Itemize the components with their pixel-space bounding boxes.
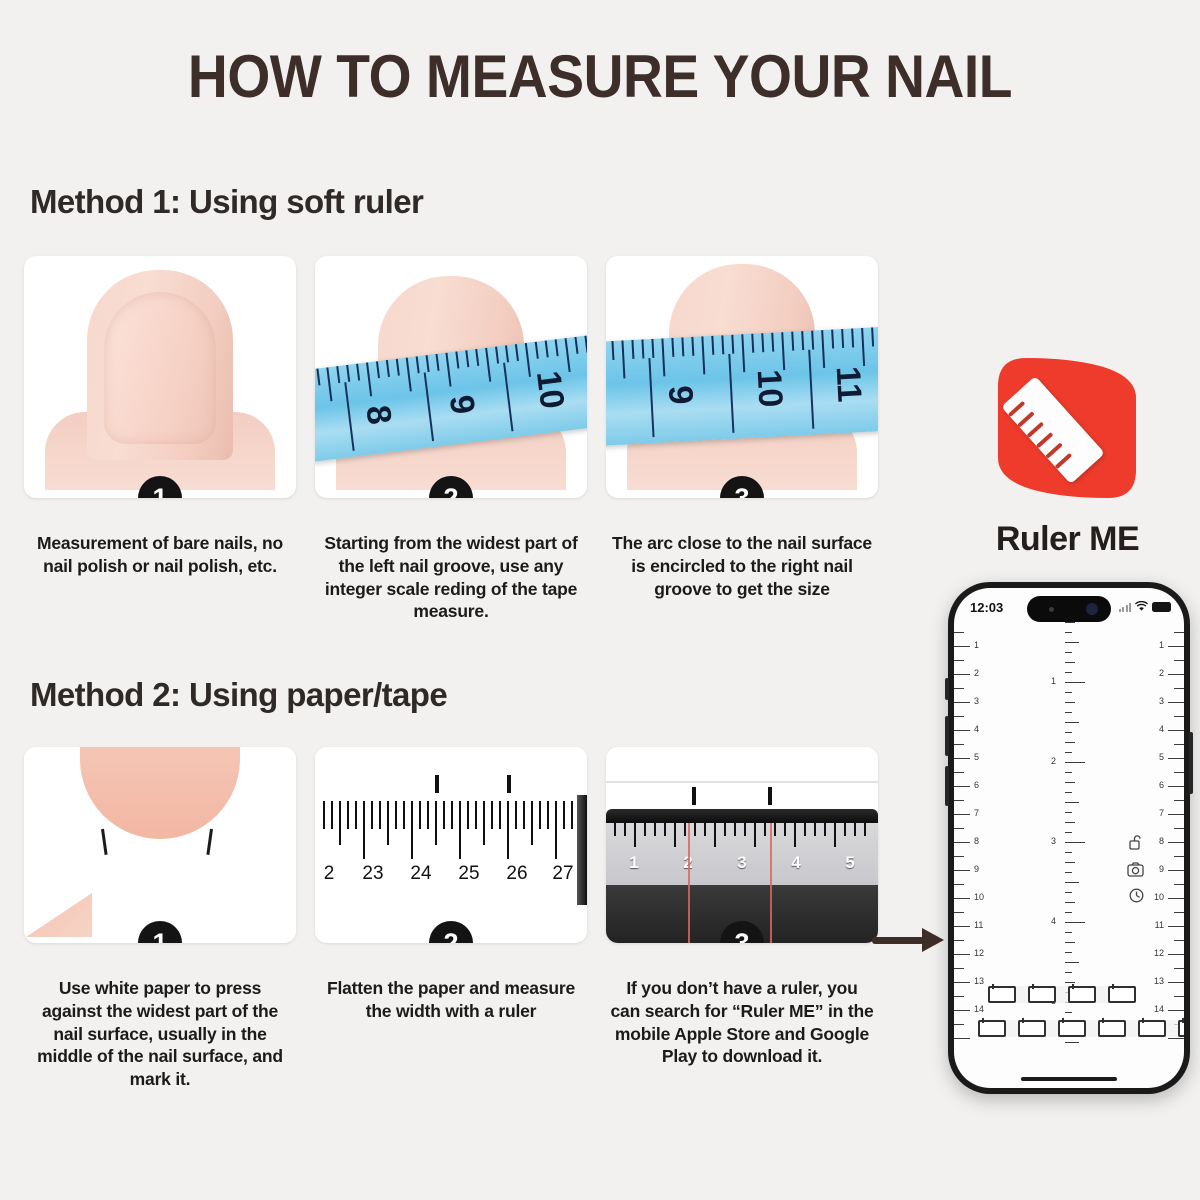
phone-ruler-label: 1 xyxy=(629,853,638,873)
ruler-tick-label: 2 xyxy=(1159,668,1164,678)
step-caption: The arc close to the nail surface is enc… xyxy=(606,532,878,600)
ruler-tick-label: 3 xyxy=(1159,696,1164,706)
phone-screen[interactable]: 12:03 xyxy=(954,588,1184,1088)
ruler-tick-label: 13 xyxy=(1154,976,1164,986)
timer-icon[interactable] xyxy=(1129,888,1144,903)
unlock-icon[interactable] xyxy=(1129,834,1144,850)
measurement-chip[interactable] xyxy=(988,986,1016,1003)
phone-volume-down-button[interactable] xyxy=(945,766,949,806)
ruler-tick-label: 12 xyxy=(974,948,984,958)
tape-number: 9 xyxy=(441,393,482,417)
sensor-dot-icon xyxy=(1049,607,1054,612)
step-caption: Flatten the paper and measure the width … xyxy=(315,977,587,1023)
ruler-tick-label: 11 xyxy=(1155,920,1164,930)
ruler-label: 26 xyxy=(506,863,527,885)
measurement-chip[interactable] xyxy=(1098,1020,1126,1037)
camera-icon[interactable] xyxy=(1127,862,1144,877)
step-caption: Use white paper to press against the wid… xyxy=(24,977,296,1091)
ruler-scale: 2 23 24 25 26 27 xyxy=(315,801,587,897)
measurement-chip[interactable] xyxy=(1178,1020,1184,1037)
wifi-icon xyxy=(1135,601,1148,612)
ruler-tick-label: 6 xyxy=(1159,780,1164,790)
tape-number: 8 xyxy=(357,403,398,427)
measurement-chip[interactable] xyxy=(1028,986,1056,1003)
ruler-tick-label: 3 xyxy=(974,696,979,706)
home-indicator[interactable] xyxy=(1021,1077,1117,1081)
ruler-tick-label: 8 xyxy=(974,836,979,846)
pen-mark xyxy=(435,775,439,793)
finger-shape xyxy=(87,270,233,460)
finger-wrapped-with-tape-measure-photo: 9 10 11 3 xyxy=(606,256,878,498)
tape-number: 10 xyxy=(528,369,571,411)
ruler-tick-label: 1 xyxy=(974,640,979,650)
ruler-label: 27 xyxy=(552,863,573,885)
step-card: 1 Use white paper to press against the w… xyxy=(24,747,296,1091)
ruler-label: 25 xyxy=(458,863,479,885)
ruler-tick-label: 1 xyxy=(1159,640,1164,650)
ruler-tick-label: 9 xyxy=(974,864,979,874)
ruler-label: 2 xyxy=(324,863,335,885)
ruler-tick-label: 3 xyxy=(1051,836,1056,846)
ruler-tick-label: 7 xyxy=(974,808,979,818)
measurement-chip-row[interactable] xyxy=(978,1020,1184,1037)
signal-bars-icon xyxy=(1119,602,1132,612)
step-card: 1 Measurement of bare nails, no nail pol… xyxy=(24,256,296,623)
ruler-tick-label: 6 xyxy=(974,780,979,790)
measurement-chip[interactable] xyxy=(1058,1020,1086,1037)
phone-power-button[interactable] xyxy=(1189,732,1193,794)
right-arrow-icon xyxy=(872,928,944,952)
ruler-tick-label: 14 xyxy=(974,1004,984,1014)
arrow-shaft xyxy=(872,937,924,944)
finger-with-blue-tape-measure-photo: 8 9 10 2 xyxy=(315,256,587,498)
tape-number: 10 xyxy=(749,368,790,408)
phone-mockup: 12:03 xyxy=(948,582,1190,1094)
ruler-tick-label: 5 xyxy=(1159,752,1164,762)
measurement-chip-row[interactable] xyxy=(988,986,1136,1003)
ruler-tick-label: 2 xyxy=(1051,756,1056,766)
ruler-tick-label: 4 xyxy=(974,724,979,734)
method-1-steps: 1 Measurement of bare nails, no nail pol… xyxy=(24,256,878,623)
ruler-label: 24 xyxy=(410,863,431,885)
tape-number: 9 xyxy=(660,385,700,406)
phone-ruler-label: 5 xyxy=(845,853,854,873)
ruler-tick-label: 1 xyxy=(1051,676,1056,686)
step-card: 8 9 10 2 Starting from the widest part o… xyxy=(315,256,587,623)
status-bar-indicators xyxy=(1119,601,1172,612)
step-caption: If you don’t have a ruler, you can searc… xyxy=(606,977,878,1068)
tape-number: 11 xyxy=(828,365,869,403)
ruler-tick-label: 4 xyxy=(1051,916,1056,926)
measurement-chip[interactable] xyxy=(978,1020,1006,1037)
ruler-tick-label: 11 xyxy=(974,920,983,930)
pen-mark xyxy=(768,787,772,805)
ruler-tick-label: 14 xyxy=(1154,1004,1164,1014)
app-name-label: Ruler ME xyxy=(960,520,1175,559)
ruler-label: 23 xyxy=(362,863,383,885)
ruler-tick-label: 9 xyxy=(1159,864,1164,874)
ruler-tick-label: 2 xyxy=(974,668,979,678)
phone-ruler-center: 1 2 3 4 5 xyxy=(1035,622,1103,1074)
step-card: 2 23 24 25 26 27 2 Flatten the paper and… xyxy=(315,747,587,1091)
bare-fingernail-photo: 1 xyxy=(24,256,296,498)
step-card: 9 10 11 3 The arc close to the nail surf… xyxy=(606,256,878,623)
step-caption: Starting from the widest part of the lef… xyxy=(315,532,587,623)
pen-mark xyxy=(692,787,696,805)
phone-ruler-scale: 1 2 3 4 5 xyxy=(606,823,878,885)
step-caption: Measurement of bare nails, no nail polis… xyxy=(24,532,296,578)
paper-on-ruler-photo: 2 23 24 25 26 27 2 xyxy=(315,747,587,943)
measurement-chip[interactable] xyxy=(1138,1020,1166,1037)
dynamic-island xyxy=(1027,596,1111,622)
step-card: 1 2 3 4 5 3 If you don’t have a ruler, y… xyxy=(606,747,878,1091)
ruler-tick-label: 7 xyxy=(1159,808,1164,818)
ruler-tick-label: 8 xyxy=(1159,836,1164,846)
paper-edge-line xyxy=(606,781,878,783)
phone-ruler-label: 4 xyxy=(791,853,800,873)
phone-edge-shape xyxy=(606,809,878,823)
front-camera-icon xyxy=(1086,603,1098,615)
status-bar-time: 12:03 xyxy=(970,600,1003,615)
arrow-head xyxy=(922,928,944,952)
reference-line xyxy=(688,823,690,943)
tape-measure-strip: 9 10 11 xyxy=(606,326,878,446)
phone-mute-switch[interactable] xyxy=(945,678,949,700)
battery-icon xyxy=(1152,602,1171,612)
phone-volume-up-button[interactable] xyxy=(945,716,949,756)
white-paper-pressed-on-nail-photo: 1 xyxy=(24,747,296,943)
phone-edge-ruler-photo: 1 2 3 4 5 3 xyxy=(606,747,878,943)
ruler-tick-label: 13 xyxy=(974,976,984,986)
ruler-edge-shadow xyxy=(577,795,587,905)
nail-plate-shape xyxy=(104,292,216,444)
page-title: HOW TO MEASURE YOUR NAIL xyxy=(48,42,1152,111)
method-1-heading: Method 1: Using soft ruler xyxy=(30,183,423,221)
method-2-steps: 1 Use white paper to press against the w… xyxy=(24,747,878,1091)
phone-ruler-label: 3 xyxy=(737,853,746,873)
measurement-chip[interactable] xyxy=(1018,1020,1046,1037)
method-2-heading: Method 2: Using paper/tape xyxy=(30,676,447,714)
pen-mark xyxy=(507,775,511,793)
measurement-chip[interactable] xyxy=(1068,986,1096,1003)
reference-line xyxy=(770,823,772,943)
ruler-tick-label: 10 xyxy=(974,892,984,902)
ruler-tick-label: 10 xyxy=(1154,892,1164,902)
measurement-chip[interactable] xyxy=(1108,986,1136,1003)
ruler-tick-label: 4 xyxy=(1159,724,1164,734)
ruler-tick-label: 12 xyxy=(1154,948,1164,958)
ruler-tick-label: 5 xyxy=(974,752,979,762)
ruler-app-icon[interactable] xyxy=(990,352,1144,504)
